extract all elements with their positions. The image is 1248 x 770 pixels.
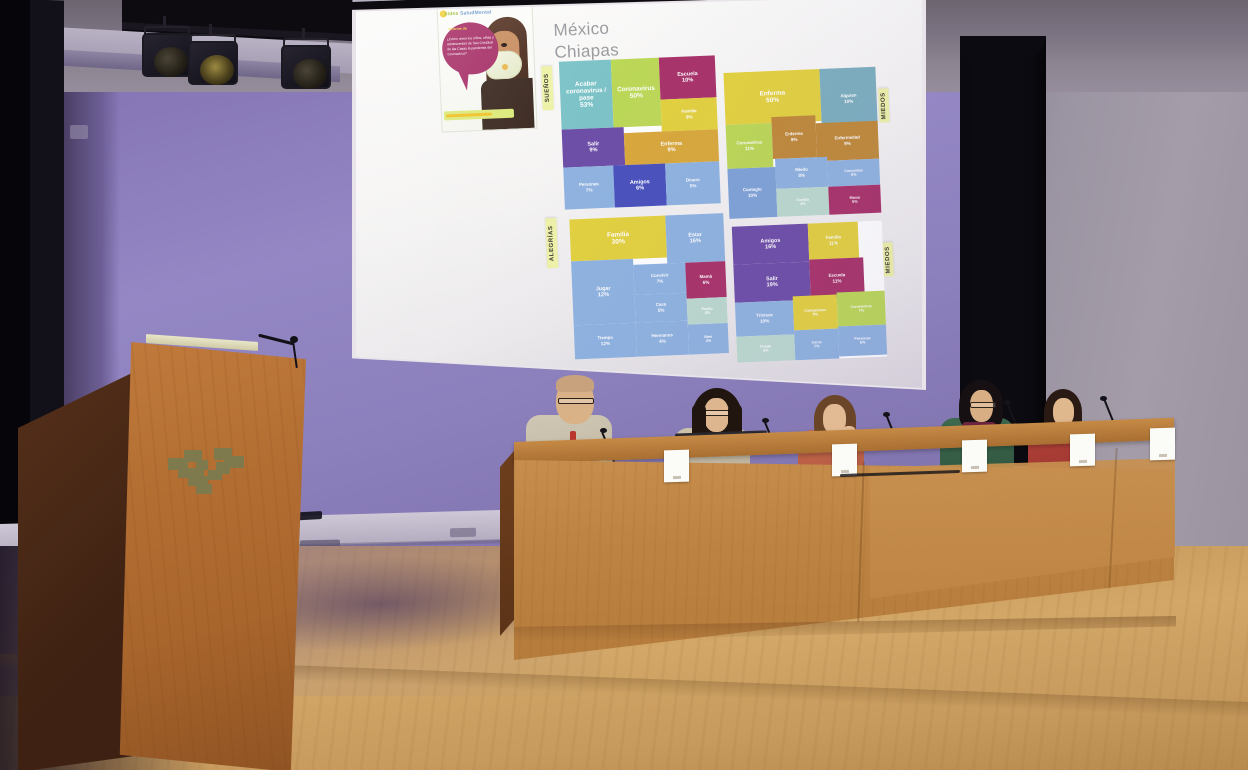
spotlight-body	[142, 33, 192, 77]
eyeglasses-icon	[558, 398, 594, 404]
treemap-cell: Tiempo 12%	[574, 323, 637, 360]
report-cover-image: Aldea SaludMental Informe de ¿Cómo viven…	[437, 3, 538, 133]
cell-value: 8%	[813, 312, 819, 316]
lectern-front	[116, 342, 306, 770]
cover-brand-b: SaludMental	[460, 9, 492, 16]
lectern-emblem-icon	[168, 448, 252, 504]
treemap-cell: Cerca 7%	[794, 329, 839, 361]
treemap-cell: Miedo 8%	[775, 157, 828, 189]
treemap-cell: Familia 30%	[569, 216, 667, 262]
name-card	[1150, 428, 1175, 461]
cell-value: 53%	[580, 101, 593, 109]
treemap-cell: Coronavirus 7%	[837, 291, 886, 327]
quadrant-suenos: Acabar coronavirus / pase 53% Coronaviru…	[559, 55, 721, 209]
treemap-cell: Puedo 4%	[687, 297, 728, 325]
cell-value: 19%	[766, 282, 777, 289]
treemap-cell: Enfermedad 9%	[816, 121, 880, 162]
mic-capsule	[1100, 396, 1107, 401]
cell-value: 16%	[765, 244, 776, 251]
cell-value: 5%	[851, 173, 857, 177]
eyeglasses-icon	[970, 402, 996, 408]
cell-value: 50%	[766, 97, 779, 105]
cell-value: 6%	[636, 185, 644, 192]
wall-vent-small	[450, 528, 476, 538]
cell-value: 12%	[601, 341, 610, 347]
treemap-cell: Puedo 5%	[736, 334, 795, 362]
cell-value: 9%	[667, 147, 675, 154]
cell-value: 9%	[791, 137, 798, 142]
cell-value: 7%	[586, 187, 593, 192]
slide-content: Aldea SaludMental Informe de ¿Cómo viven…	[356, 0, 922, 386]
quadrant-miedos-bottom: Amigos 16% Familia 11% Salir 19% Escue	[732, 221, 887, 363]
cell-value: 9%	[686, 114, 693, 119]
cell-value: 50%	[630, 92, 643, 100]
spotlight-lens	[154, 47, 188, 77]
treemap-chart: SUEÑOS ALEGRÍAS MIEDOS MIEDOS Acabar cor…	[559, 46, 901, 359]
cell-value: 6%	[703, 280, 710, 285]
panelist-hair	[556, 375, 594, 392]
cell-value: 6%	[860, 340, 866, 344]
cell-value: 10%	[682, 77, 693, 84]
name-card	[832, 444, 857, 477]
slide-title-line1: México	[553, 17, 618, 41]
treemap-cell: Bien 4%	[688, 323, 729, 355]
cell-value: 7%	[858, 308, 864, 312]
treemap-cell: Familia 9%	[661, 97, 718, 131]
treemap-cell: Coronavirus 11%	[726, 123, 774, 169]
treemap-cell: Estar 16%	[665, 213, 725, 263]
wall-plate	[70, 125, 88, 139]
cell-value: 4%	[800, 202, 806, 206]
eyeglasses-icon	[704, 410, 731, 416]
projected-slide: Aldea SaludMental Informe de ¿Cómo viven…	[356, 0, 922, 388]
treemap-cell: Mamá 5%	[828, 185, 881, 215]
treemap-cell: Acabar coronavirus / pase 53%	[559, 60, 614, 130]
quadrant-miedos-top: Enferma 50% Alguien 10% Coronavirus 11%	[723, 67, 881, 219]
treemap-cell: Personas 6%	[838, 325, 887, 357]
cell-value: 10%	[748, 193, 757, 199]
cell-value: 9%	[844, 141, 851, 146]
cell-value: 30%	[612, 238, 625, 246]
cell-label: Acabar coronavirus / pase	[561, 79, 612, 103]
quadrant-alegrias: Familia 30% Estar 16% Jugar 12% Conviv	[569, 213, 729, 359]
speech-bubble: Informe de ¿Cómo viven los niños, niñas …	[441, 21, 499, 75]
quadrant-tab-alegrias: ALEGRÍAS	[545, 218, 558, 268]
cell-value: 10%	[760, 318, 769, 324]
treemap-cell: Convivir 7%	[633, 263, 686, 295]
cell-value: 4%	[659, 338, 666, 343]
treemap-cell: Enferma 9%	[771, 115, 817, 159]
cell-value: 8%	[798, 173, 805, 178]
cell-value: 4%	[706, 339, 712, 343]
cell-value: 7%	[657, 279, 664, 284]
cell-value: 5%	[763, 348, 769, 352]
cell-value: 4%	[704, 311, 710, 315]
illustration-body	[481, 78, 535, 130]
mic-capsule	[883, 412, 890, 417]
treemap-cell: Compañeros 8%	[793, 295, 838, 331]
name-card-logo	[673, 476, 681, 479]
cell-value: 10%	[844, 99, 853, 105]
treemap-cell: Coronavirus 50%	[611, 58, 662, 128]
projection-screen: Aldea SaludMental Informe de ¿Cómo viven…	[356, 0, 922, 388]
quadrant-tab-miedos-top: MIEDOS	[878, 88, 889, 122]
treemap-cell: Familia 11%	[808, 222, 859, 260]
spotlight-lens	[293, 59, 327, 89]
auditorium-scene: Aldea SaludMental Informe de ¿Cómo viven…	[0, 0, 1248, 770]
treemap-cell: Jugar 12%	[571, 259, 636, 325]
name-card-logo	[971, 466, 979, 469]
slide-title: México Chiapas	[553, 17, 619, 63]
lectern-mic-arm[interactable]	[258, 334, 294, 346]
treemap-cell: Enferma 9%	[624, 129, 719, 165]
bubble-text: ¿Cómo viven los niños, niñas y adolescen…	[447, 35, 495, 57]
bubble-heading: Informe de	[448, 26, 467, 32]
name-card	[1070, 434, 1095, 467]
treemap-cell: Casa 5%	[634, 293, 687, 323]
cell-value: 16%	[690, 238, 701, 245]
cell-value: 11%	[745, 146, 754, 152]
treemap-cell: Dinero 5%	[665, 161, 721, 205]
treemap-cell: Mamá 6%	[685, 261, 726, 299]
cover-brand-a: Aldea	[444, 11, 459, 18]
name-card-logo	[841, 470, 849, 473]
treemap-cell: Familia 4%	[776, 187, 829, 217]
mic-capsule	[1004, 400, 1011, 405]
spotlight-body	[188, 41, 238, 85]
cell-value: 12%	[598, 292, 609, 299]
name-card-logo	[1159, 454, 1167, 457]
treemap-cell: Personas 7%	[563, 166, 615, 210]
quadrant-tab-miedos-bottom: MIEDOS	[883, 242, 894, 276]
treemap-cell: Amigos 6%	[613, 163, 667, 207]
cell-value: 11%	[829, 240, 838, 246]
treemap-cell: Escuela 10%	[659, 55, 717, 99]
cell-value: 5%	[852, 199, 858, 203]
treemap-cell: Conocidos 5%	[827, 159, 880, 187]
treemap-cell: Tristeza 10%	[735, 300, 794, 336]
name-card-logo	[1079, 460, 1087, 463]
lectern	[18, 330, 318, 770]
cover-logo: Aldea SaludMental	[444, 9, 492, 17]
cell-value: 5%	[690, 183, 697, 188]
spotlight-lens	[200, 55, 234, 85]
treemap-cell: Hermanos 4%	[636, 321, 689, 357]
name-card	[664, 450, 689, 483]
lectern-side	[18, 372, 134, 770]
cell-value: 5%	[658, 308, 665, 313]
spotlight-body	[281, 45, 331, 89]
cell-value: 9%	[589, 147, 597, 154]
cell-value: 11%	[833, 278, 842, 284]
quadrant-tab-suenos: SUEÑOS	[541, 66, 554, 110]
cell-value: 7%	[814, 344, 820, 348]
treemap-cell: Salir 9%	[562, 127, 626, 168]
treemap-cell: Contagio 10%	[727, 167, 777, 219]
treemap-cell: Amigos 16%	[732, 224, 809, 265]
name-card	[962, 440, 987, 473]
